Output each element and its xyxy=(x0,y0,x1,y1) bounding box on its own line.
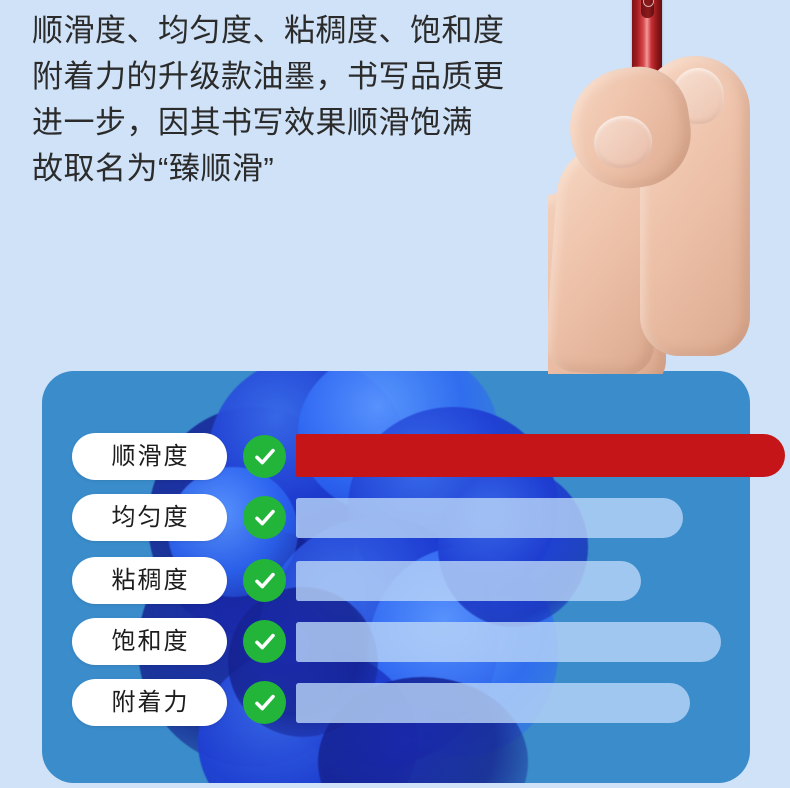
checkmark-icon xyxy=(243,559,286,602)
checkmark-icon xyxy=(243,620,286,663)
headline-line-1: 顺滑度、均匀度、粘稠度、饱和度 xyxy=(32,8,572,54)
feature-card: 顺滑度 均匀度 xyxy=(42,371,750,783)
feature-label-pill: 粘稠度 xyxy=(72,557,227,604)
headline-line-4: 故取名为“臻顺滑” xyxy=(32,146,572,192)
headline-text: 顺滑度、均匀度、粘稠度、饱和度 附着力的升级款油墨，书写品质更 进一步，因其书写… xyxy=(32,8,572,192)
checkmark-icon xyxy=(243,435,286,478)
feature-label: 附着力 xyxy=(110,691,190,715)
feature-row-list: 顺滑度 均匀度 xyxy=(42,371,750,783)
table-row: 粘稠度 xyxy=(42,557,750,605)
checkmark-icon xyxy=(243,681,286,724)
product-detail-page: 顺滑度、均匀度、粘稠度、饱和度 附着力的升级款油墨，书写品质更 进一步，因其书写… xyxy=(0,0,790,788)
rating-bar xyxy=(296,683,690,723)
headline-line-2: 附着力的升级款油墨，书写品质更 xyxy=(32,54,572,100)
feature-label-pill: 饱和度 xyxy=(72,618,227,665)
feature-label: 顺滑度 xyxy=(110,445,190,469)
rating-bar-highlight xyxy=(296,434,785,477)
feature-label-pill: 均匀度 xyxy=(72,494,227,541)
rating-bar xyxy=(296,622,721,662)
feature-label-pill: 附着力 xyxy=(72,679,227,726)
feature-label-pill: 顺滑度 xyxy=(72,433,227,480)
table-row: 附着力 xyxy=(42,679,750,727)
headline-line-3: 进一步，因其书写效果顺滑饱满 xyxy=(32,100,572,146)
feature-label: 饱和度 xyxy=(110,630,190,654)
rating-bar xyxy=(296,498,683,538)
feature-label: 均匀度 xyxy=(110,506,190,530)
checkmark-icon xyxy=(243,496,286,539)
table-row: 均匀度 xyxy=(42,494,750,542)
table-row: 饱和度 xyxy=(42,618,750,666)
feature-label: 粘稠度 xyxy=(110,569,190,593)
hand-holding-pen-image xyxy=(548,0,790,374)
rating-bar xyxy=(296,561,641,601)
